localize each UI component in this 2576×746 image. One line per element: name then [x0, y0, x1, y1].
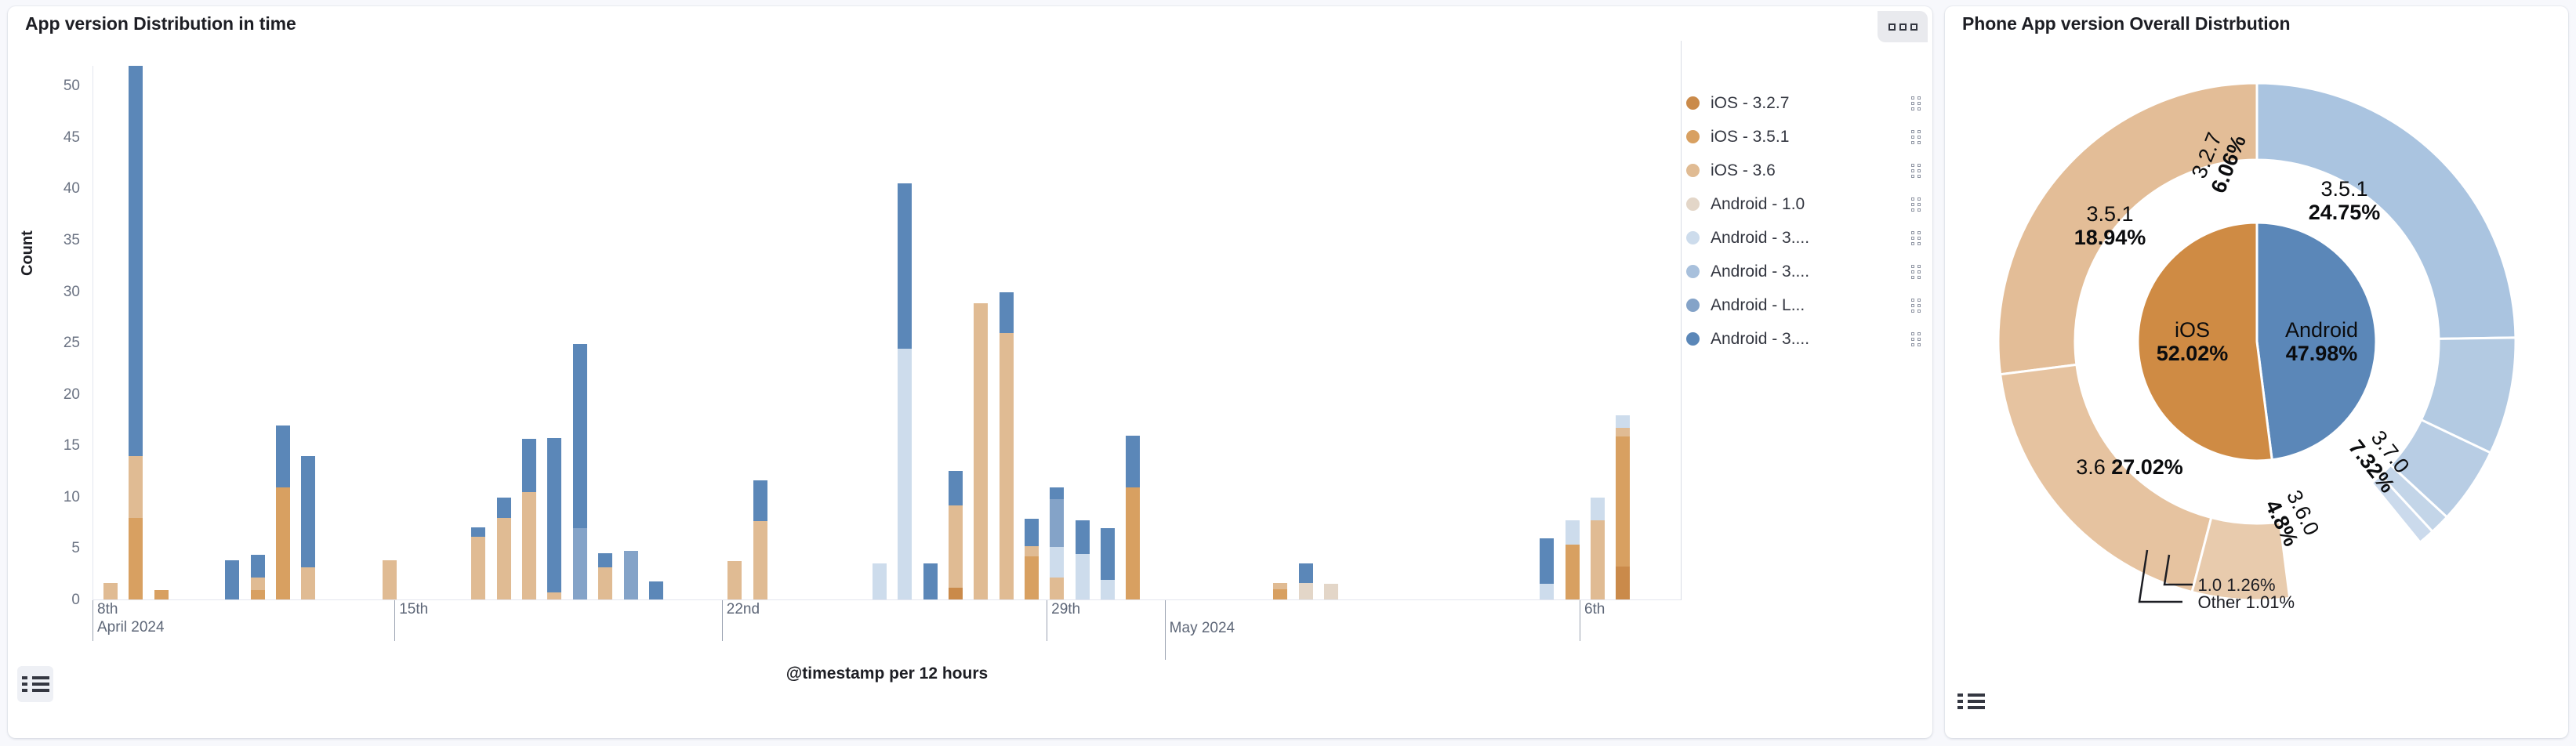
legend-item-label: Android - 3....: [1711, 263, 1906, 281]
bar-segment: [727, 561, 742, 600]
legend-color-dot: [1686, 265, 1700, 278]
bar-segment: [1591, 520, 1605, 600]
bar-segment: [873, 563, 887, 600]
bar-segment: [624, 551, 638, 600]
y-axis-tick: 45: [44, 129, 80, 147]
bar-segment: [1000, 292, 1014, 333]
bar-stack[interactable]: [1566, 520, 1580, 600]
legend-item-label: Android - 3....: [1711, 330, 1906, 349]
legend-grip-icon[interactable]: [1910, 230, 1921, 246]
bar-segment: [1616, 415, 1630, 428]
y-axis-tick: 30: [44, 284, 80, 301]
legend-item-4[interactable]: Android - 3....: [1686, 221, 1921, 255]
legend-color-dot: [1686, 197, 1700, 211]
x-axis-tick: 22nd: [722, 600, 760, 641]
bar-segment: [598, 567, 612, 600]
bar-stack[interactable]: [383, 560, 397, 600]
legend-color-dot: [1686, 332, 1700, 346]
bar-stack[interactable]: [1101, 528, 1115, 600]
bar-segment: [1616, 567, 1630, 600]
legend-item-label: Android - L...: [1711, 296, 1906, 315]
y-axis-title: Count: [19, 230, 37, 276]
bar-stack[interactable]: [497, 498, 511, 600]
legend-grip-icon[interactable]: [1910, 96, 1921, 111]
panel-menu-icon[interactable]: [1878, 11, 1928, 42]
x-axis-tick: 29th: [1047, 600, 1080, 641]
legend-item-label: iOS - 3.2.7: [1711, 94, 1906, 113]
bar-segment: [923, 563, 938, 600]
bar-segment: [1566, 520, 1580, 545]
legend-item-1[interactable]: iOS - 3.5.1: [1686, 120, 1921, 154]
y-axis-tick: 10: [44, 489, 80, 506]
bar-segment: [1101, 528, 1115, 580]
bar-segment: [497, 518, 511, 600]
y-axis-tick: 40: [44, 180, 80, 197]
bar-stack[interactable]: [1616, 415, 1630, 600]
bar-stack[interactable]: [573, 344, 587, 600]
bar-stack[interactable]: [1591, 498, 1605, 600]
bar-segment: [276, 426, 290, 487]
x-axis-ticks: 8thApril 202415th22nd29thMay 20246th: [93, 600, 1682, 643]
y-axis-tick: 25: [44, 335, 80, 352]
bar-segment: [225, 560, 239, 600]
legend-list-icon[interactable]: [17, 666, 53, 702]
bar-segment: [1050, 547, 1064, 578]
plot-right-edge: [1681, 41, 1682, 600]
bar-segment: [1050, 499, 1064, 546]
legend-item-label: iOS - 3.6: [1711, 161, 1906, 180]
y-axis-tick: 50: [44, 78, 80, 95]
bar-stack[interactable]: [471, 527, 485, 600]
bar-stack[interactable]: [624, 551, 638, 600]
bar-segment: [974, 303, 988, 600]
bar-segment: [522, 492, 536, 600]
bar-segment: [573, 528, 587, 600]
bar-segment: [383, 560, 397, 600]
y-axis-ticks: 50454035302520151050: [44, 41, 80, 715]
bar-stack[interactable]: [753, 480, 767, 600]
bar-segment: [1025, 556, 1039, 600]
y-axis-tick: 20: [44, 386, 80, 404]
sunburst-chart: iOS52.02%Android47.98%3.6 27.02%3.5.118.…: [1945, 41, 2568, 730]
bar-segment: [1050, 578, 1064, 600]
bar-segment: [471, 527, 485, 537]
legend-item-label: Android - 3....: [1711, 229, 1906, 248]
bar-stack[interactable]: [598, 553, 612, 600]
bar-segment: [573, 344, 587, 528]
legend-grip-icon[interactable]: [1910, 331, 1921, 347]
x-axis-title: @timestamp per 12 hours: [93, 665, 1682, 683]
x-axis-tick: 6th: [1580, 600, 1605, 641]
bar-stack[interactable]: [129, 66, 143, 600]
bar-segment: [1076, 554, 1090, 600]
legend-item-6[interactable]: Android - L...: [1686, 288, 1921, 322]
bar-stack[interactable]: [103, 583, 118, 600]
dashboard: App version Distribution in time Count 5…: [0, 0, 2576, 746]
y-axis-tick: 35: [44, 232, 80, 249]
bar-stack[interactable]: [923, 563, 938, 600]
bar-segment: [1126, 487, 1140, 600]
bar-segment: [497, 498, 511, 518]
bar-stack[interactable]: [1299, 563, 1313, 600]
bar-segment: [1273, 589, 1287, 600]
bar-segment: [1025, 519, 1039, 545]
bar-segment: [1616, 436, 1630, 566]
bar-segment: [949, 505, 963, 588]
bar-stack[interactable]: [898, 183, 912, 600]
bar-stack[interactable]: [522, 439, 536, 600]
panel-header: App version Distribution in time: [8, 6, 1932, 41]
legend-item-7[interactable]: Android - 3....: [1686, 322, 1921, 356]
plot-area: [93, 66, 1682, 600]
bar-stack[interactable]: [1540, 538, 1554, 600]
bar-segment: [1000, 333, 1014, 600]
legend-grip-icon[interactable]: [1910, 129, 1921, 145]
bar-segment: [471, 537, 485, 600]
bar-segment: [753, 521, 767, 600]
bar-segment: [1540, 538, 1554, 584]
x-axis-tick: 8thApril 2024: [93, 600, 165, 641]
bar-stack[interactable]: [1076, 520, 1090, 600]
panel-app-version-distribution: App version Distribution in time Count 5…: [8, 6, 1932, 738]
list-icon-right: [1957, 693, 1985, 709]
bar-segment: [522, 439, 536, 492]
bar-series: [93, 66, 1682, 600]
bar-stack[interactable]: [873, 563, 887, 600]
legend-color-dot: [1686, 231, 1700, 244]
bar-segment: [1616, 428, 1630, 437]
menu-square-3-icon: [1910, 24, 1917, 31]
y-axis-tick: 0: [44, 592, 80, 609]
bar-segment: [949, 471, 963, 506]
legend-item-5[interactable]: Android - 3....: [1686, 255, 1921, 288]
legend-item-label: iOS - 3.5.1: [1711, 128, 1906, 147]
bar-segment: [251, 578, 265, 590]
legend-item-0[interactable]: iOS - 3.2.7: [1686, 86, 1921, 120]
bar-segment: [1025, 546, 1039, 556]
bar-stack[interactable]: [1050, 487, 1064, 600]
bar-segment: [301, 456, 315, 567]
x-tick-label: 29th: [1051, 600, 1080, 618]
legend-item-label: Android - 1.0: [1711, 195, 1906, 214]
bar-stack[interactable]: [1000, 292, 1014, 600]
bar-segment: [949, 588, 963, 600]
x-tick-label: 6th: [1584, 600, 1605, 618]
legend-color-dot: [1686, 96, 1700, 110]
bar-stack[interactable]: [276, 426, 290, 600]
x-axis-tick: 15th: [394, 600, 428, 641]
x-tick-sublabel: April 2024: [97, 618, 165, 636]
bar-segment: [1050, 487, 1064, 500]
bar-stack[interactable]: [1273, 583, 1287, 600]
bar-segment: [251, 555, 265, 578]
bar-stack[interactable]: [547, 438, 561, 600]
legend-item-3[interactable]: Android - 1.0: [1686, 187, 1921, 221]
bar-segment: [276, 487, 290, 600]
legend-list-icon-right[interactable]: [1953, 683, 1989, 719]
bar-segment: [1273, 583, 1287, 589]
bar-segment: [1076, 520, 1090, 554]
bar-stack[interactable]: [225, 560, 239, 600]
legend-color-dot: [1686, 130, 1700, 143]
bar-chart: Count 50454035302520151050 8thApril 2024…: [8, 41, 1932, 715]
bar-segment: [129, 456, 143, 518]
bar-stack[interactable]: [251, 555, 265, 600]
menu-square-2-icon: [1899, 24, 1907, 31]
bar-segment: [103, 583, 118, 600]
legend-grip-icon[interactable]: [1910, 163, 1921, 179]
bar-segment: [129, 518, 143, 600]
page-title-right: Phone App version Overall Distrbution: [1962, 13, 2290, 34]
x-tick-label: 8th: [97, 600, 165, 618]
bar-stack[interactable]: [974, 303, 988, 600]
legend-color-dot: [1686, 299, 1700, 312]
y-axis-tick: 15: [44, 437, 80, 454]
x-tick-label: 22nd: [727, 600, 760, 618]
sunburst-svg: [1990, 75, 2523, 608]
bar-stack[interactable]: [1324, 584, 1338, 600]
bar-segment: [1540, 584, 1554, 600]
bar-stack[interactable]: [1126, 436, 1140, 600]
bar-segment: [598, 553, 612, 567]
bar-segment: [649, 581, 663, 600]
bar-segment: [1101, 580, 1115, 600]
panel-overall-distribution: Phone App version Overall Distrbution iO…: [1945, 6, 2568, 738]
bar-stack[interactable]: [301, 456, 315, 600]
bar-segment: [1126, 436, 1140, 487]
bar-segment: [129, 66, 143, 456]
inner-slice-Android[interactable]: [2257, 223, 2376, 460]
bar-segment: [547, 438, 561, 592]
bar-segment: [898, 349, 912, 600]
legend-grip-icon[interactable]: [1910, 298, 1921, 313]
list-icon: [22, 676, 49, 692]
panel-header-right: Phone App version Overall Distrbution: [1945, 6, 2568, 41]
callout-label-1: Other 1.01%: [2198, 592, 2295, 613]
bar-stack[interactable]: [727, 561, 742, 600]
x-tick-label: 15th: [399, 600, 428, 618]
x-axis-tick: May 2024: [1165, 600, 1235, 660]
bar-segment: [301, 567, 315, 600]
menu-square-1-icon: [1888, 24, 1896, 31]
bar-segment: [1591, 498, 1605, 520]
bar-stack[interactable]: [649, 581, 663, 600]
bar-stack[interactable]: [1025, 519, 1039, 600]
bar-segment: [1324, 584, 1338, 600]
x-tick-sublabel: May 2024: [1170, 619, 1235, 637]
legend-item-2[interactable]: iOS - 3.6: [1686, 154, 1921, 187]
y-axis-tick: 5: [44, 540, 80, 557]
bar-segment: [753, 480, 767, 521]
bar-stack[interactable]: [949, 471, 963, 600]
page-title: App version Distribution in time: [25, 13, 296, 34]
inner-slice-iOS[interactable]: [2138, 223, 2272, 461]
legend-grip-icon[interactable]: [1910, 197, 1921, 212]
bar-segment: [1566, 545, 1580, 600]
bar-segment: [1299, 583, 1313, 600]
bar-segment: [898, 183, 912, 349]
legend-grip-icon[interactable]: [1910, 264, 1921, 280]
chart-legend: iOS - 3.2.7iOS - 3.5.1iOS - 3.6Android -…: [1686, 86, 1921, 356]
legend-color-dot: [1686, 164, 1700, 177]
bar-segment: [1299, 563, 1313, 583]
